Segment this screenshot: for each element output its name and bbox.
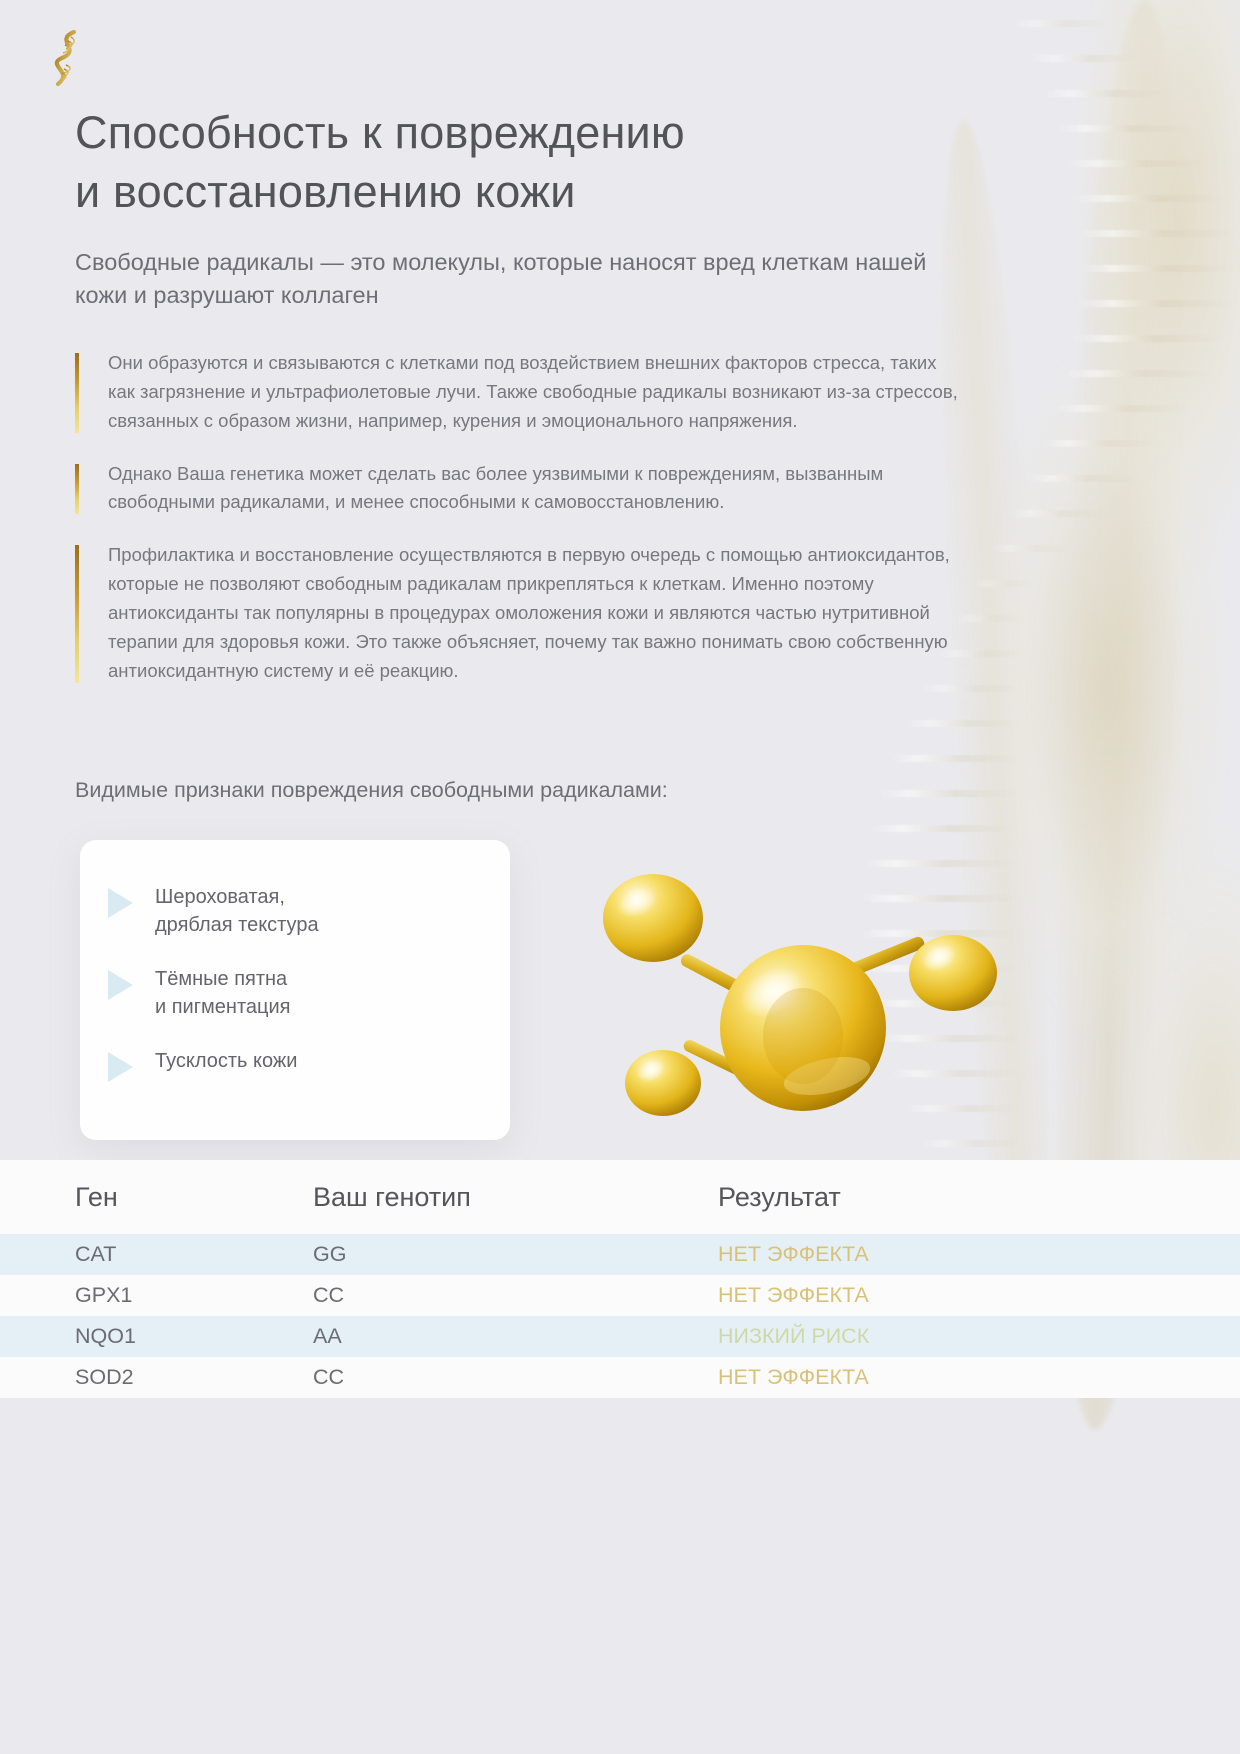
cell-result: НЕТ ЭФФЕКТА (718, 1283, 1240, 1308)
results-table: Ген Ваш генотип Результат CAT GG НЕТ ЭФФ… (0, 1160, 1240, 1398)
dna-helix-logo (44, 28, 92, 88)
paragraph-text: Однако Ваша генетика может сделать вас б… (108, 460, 960, 518)
cell-genotype: CC (313, 1283, 718, 1308)
sign-item-label: Тусклость кожи (155, 1048, 297, 1076)
page-subtitle: Свободные радикалы — это молекулы, котор… (75, 246, 965, 313)
sign-item: Тёмные пятна и пигментация (108, 966, 482, 1021)
paragraph-block: Они образуются и связываются с клетками … (75, 349, 960, 436)
triangle-bullet-icon (108, 888, 133, 918)
table-row: CAT GG НЕТ ЭФФЕКТА (0, 1234, 1240, 1275)
table-row: SOD2 CC НЕТ ЭФФЕКТА (0, 1357, 1240, 1398)
paragraph-block: Однако Ваша генетика может сделать вас б… (75, 460, 960, 518)
sign-item: Тусклость кожи (108, 1048, 482, 1082)
cell-result: НЕТ ЭФФЕКТА (718, 1242, 1240, 1267)
page-title: Способность к повреждению и восстановлен… (75, 104, 955, 221)
table-header-row: Ген Ваш генотип Результат (0, 1160, 1240, 1234)
sign-item: Шероховатая, дряблая текстура (108, 884, 482, 939)
paragraph-text: Профилактика и восстановление осуществля… (108, 541, 960, 685)
sign-item-label: Тёмные пятна и пигментация (155, 966, 290, 1021)
paragraph-text: Они образуются и связываются с клетками … (108, 349, 960, 436)
triangle-bullet-icon (108, 970, 133, 1000)
triangle-bullet-icon (108, 1052, 133, 1082)
cell-gene: GPX1 (0, 1283, 313, 1308)
visible-signs-title: Видимые признаки повреждения свободными … (75, 778, 1015, 803)
cell-genotype: CC (313, 1365, 718, 1390)
cell-result: НИЗКИЙ РИСК (718, 1324, 1240, 1349)
cell-genotype: AA (313, 1324, 718, 1349)
visible-signs-card: Шероховатая, дряблая текстура Тёмные пят… (80, 840, 510, 1140)
table-header-result: Результат (718, 1182, 1240, 1213)
sign-item-label: Шероховатая, дряблая текстура (155, 884, 319, 939)
cell-genotype: GG (313, 1242, 718, 1267)
cell-gene: SOD2 (0, 1365, 313, 1390)
page-title-line-2: и восстановлению кожи (75, 166, 576, 217)
paragraph-block: Профилактика и восстановление осуществля… (75, 541, 960, 685)
page-title-line-1: Способность к повреждению (75, 107, 685, 158)
gold-molecule-illustration (575, 840, 1025, 1150)
cell-gene: CAT (0, 1242, 313, 1267)
table-row: GPX1 CC НЕТ ЭФФЕКТА (0, 1275, 1240, 1316)
cell-gene: NQO1 (0, 1324, 313, 1349)
table-header-genotype: Ваш генотип (313, 1182, 718, 1213)
cell-result: НЕТ ЭФФЕКТА (718, 1365, 1240, 1390)
table-header-gene: Ген (0, 1182, 313, 1213)
paragraph-list: Они образуются и связываются с клетками … (75, 349, 960, 710)
table-row: NQO1 AA НИЗКИЙ РИСК (0, 1316, 1240, 1357)
